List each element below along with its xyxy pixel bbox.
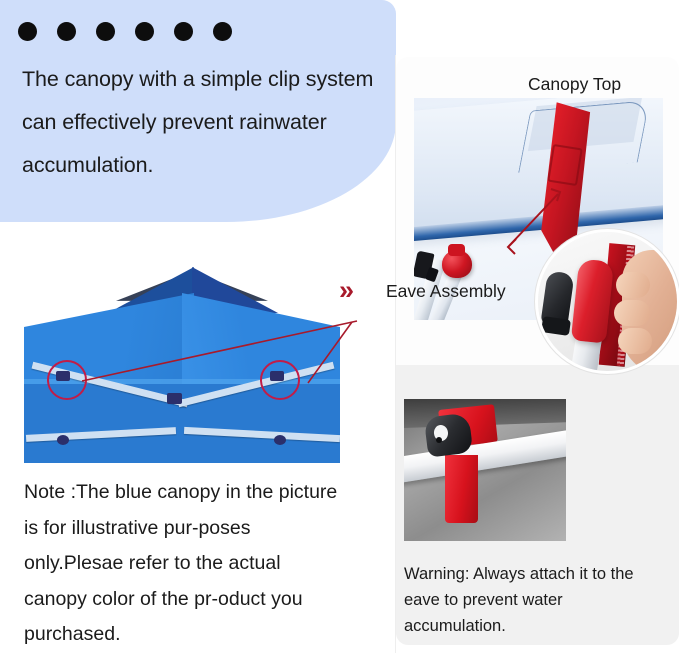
finger [618,328,652,354]
finger [616,272,650,298]
finger [614,300,650,326]
truss-foot [274,435,286,445]
bubble-dot [135,22,154,41]
callout-bubble: The canopy with a simple clip system can… [0,0,396,222]
label-canopy-top: Canopy Top [528,74,621,95]
bubble-dot [174,22,193,41]
red-strap-lower [445,455,478,523]
bubble-dots-row [18,22,232,41]
truss-foot [57,435,69,445]
annotation-circle-left [47,360,87,400]
eave-strap-attached-photo [404,399,566,541]
bubble-dot [96,22,115,41]
chevron-double-right-icon: » [339,277,350,304]
blue-canopy-underside-photo [24,263,340,463]
bubble-dot [57,22,76,41]
callout-text: The canopy with a simple clip system can… [22,58,382,187]
black-clip [424,412,474,457]
label-eave-assembly: Eave Assembly [386,281,506,302]
bubble-dot [213,22,232,41]
left-column: The canopy with a simple clip system can… [0,0,396,653]
truss-hub [167,393,182,404]
hand-attaching-clip-inset [535,229,679,374]
annotation-circle-right [260,360,300,400]
warning-text: Warning: Always attach it to the eave to… [404,561,659,639]
bubble-dot [18,22,37,41]
note-text: Note :The blue canopy in the picture is … [24,475,344,653]
black-clip-pin [436,437,442,443]
